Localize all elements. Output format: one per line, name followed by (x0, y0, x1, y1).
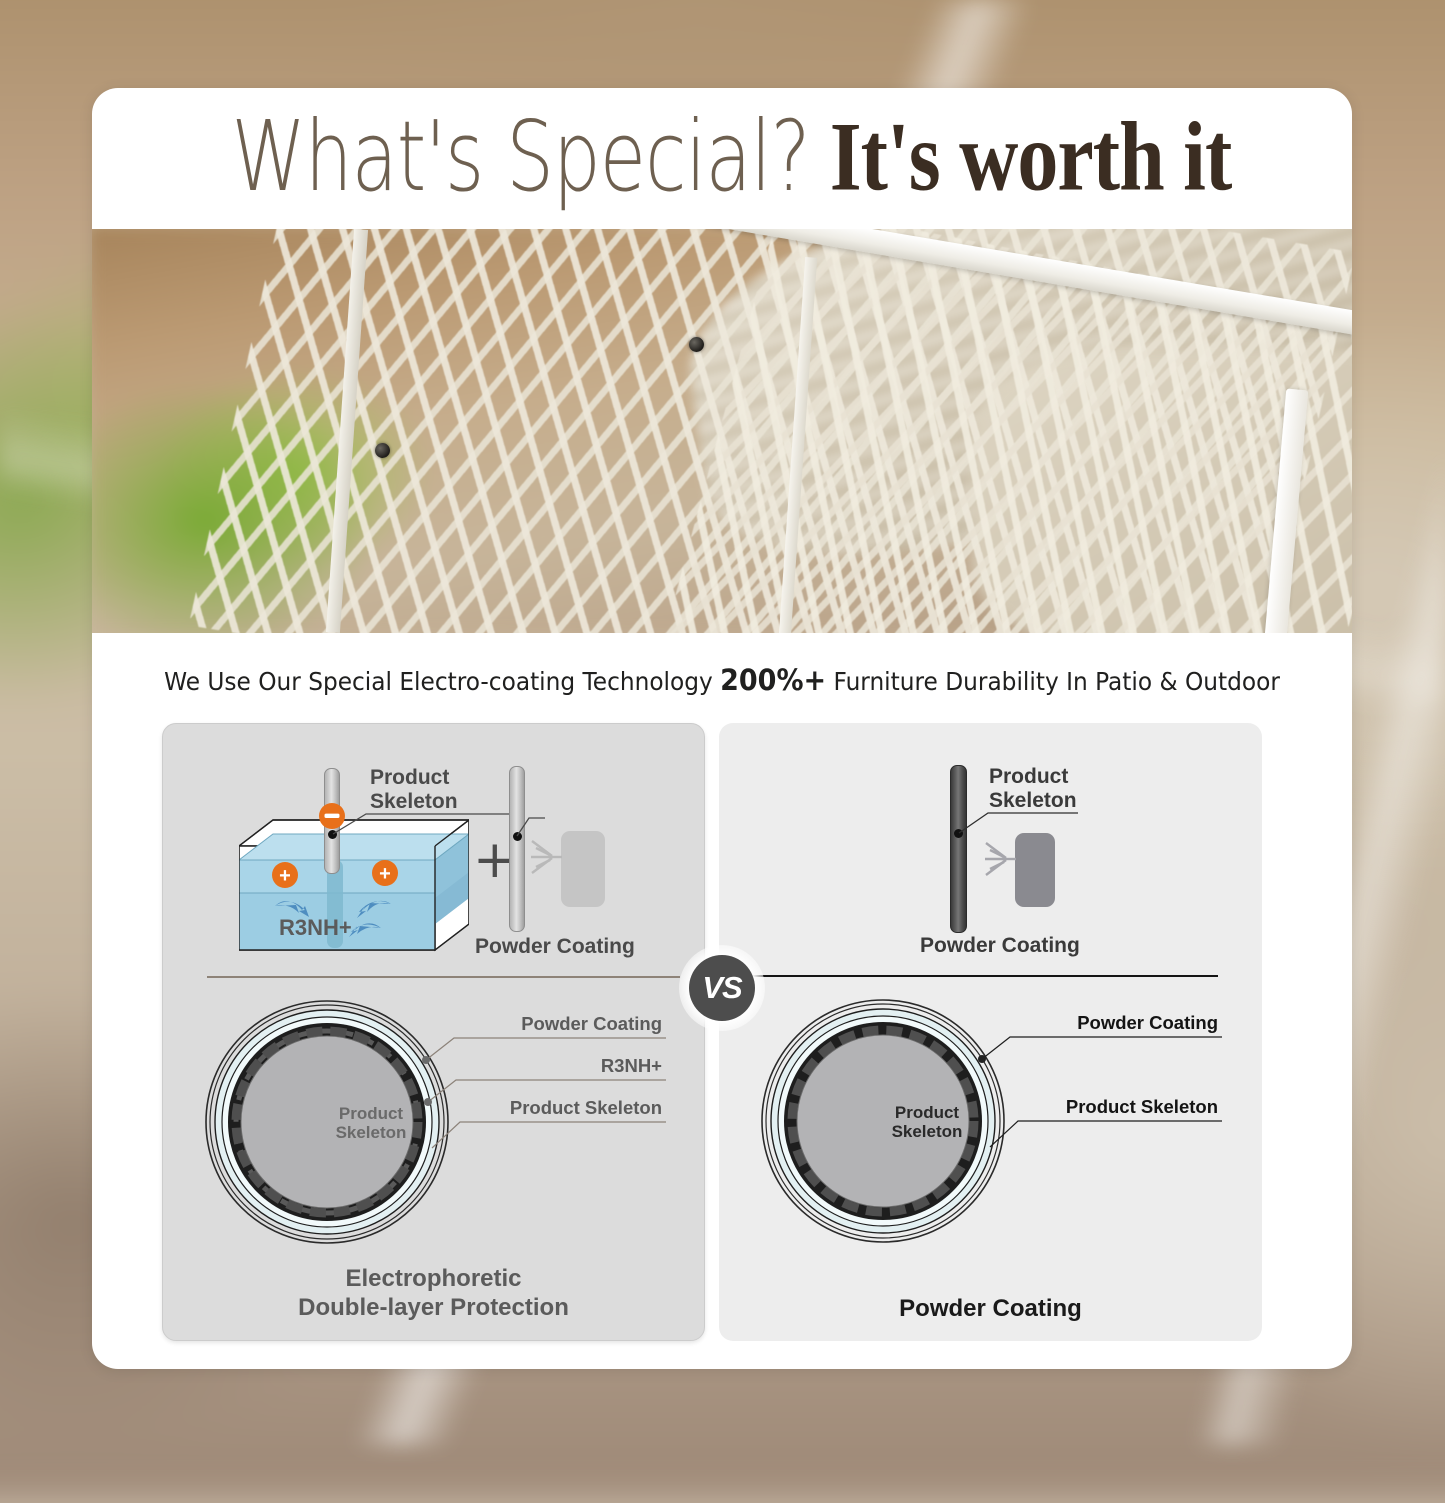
comparison-panels: + + R3NH+ (162, 723, 1282, 1341)
svg-text:+: + (379, 863, 391, 885)
right-callout-1: Product Skeleton (719, 1096, 1218, 1118)
content-area: We Use Our Special Electro-coating Techn… (92, 633, 1352, 1369)
subtitle-before: We Use Our Special Electro-coating Techn… (164, 667, 720, 696)
header-banner: What's Special?It's worth it (92, 88, 1352, 229)
subtitle-line: We Use Our Special Electro-coating Techn… (136, 663, 1308, 697)
svg-text:+: + (279, 865, 291, 887)
right-panel-divider (743, 975, 1218, 977)
page-title-bold: It's worth it (830, 107, 1232, 205)
left-callout-2: Product Skeleton (163, 1097, 662, 1119)
photo-rivet-lower (375, 443, 390, 458)
product-photo (92, 229, 1352, 633)
left-panel-caption: Electrophoretic Double-layer Protection (163, 1265, 704, 1322)
vs-badge-halo: VS (679, 945, 765, 1031)
right-powder-coating-label: Powder Coating (920, 934, 1080, 958)
electrolyte-label: R3NH+ (279, 916, 352, 941)
coated-rod-left (509, 766, 525, 932)
left-panel-divider (207, 976, 680, 978)
left-callout-0: Powder Coating (163, 1013, 662, 1035)
photo-rivet-upper (689, 337, 704, 352)
spray-nozzle-left (528, 836, 568, 878)
page-title-light: What's Special? (231, 108, 809, 206)
left-process-diagram: + + R3NH+ (163, 724, 704, 972)
left-product-skeleton-label: Product Skeleton (370, 766, 458, 813)
panel-powder-coating: Product Skeleton Powder Coating (719, 723, 1262, 1341)
infographic-card: What's Special?It's worth it We Use Our … (92, 88, 1352, 1369)
vs-badge: VS (689, 955, 755, 1021)
right-product-skeleton-label: Product Skeleton (989, 765, 1077, 812)
right-panel-caption: Powder Coating (719, 1295, 1262, 1323)
right-cross-section-area: Product Skeleton Powder Coating Product … (719, 991, 1262, 1341)
right-process-diagram: Product Skeleton Powder Coating (719, 723, 1262, 971)
panel-electrophoretic: + + R3NH+ (162, 723, 705, 1341)
left-powder-coating-label: Powder Coating (475, 935, 635, 959)
right-callout-0: Powder Coating (719, 1012, 1218, 1034)
subtitle-highlight: 200%+ (720, 663, 826, 697)
spray-nozzle-right (982, 838, 1022, 880)
left-callout-1: R3NH+ (163, 1055, 662, 1077)
uncoated-rod-right (950, 765, 967, 933)
subtitle-after: Furniture Durability In Patio & Outdoor (826, 667, 1280, 696)
